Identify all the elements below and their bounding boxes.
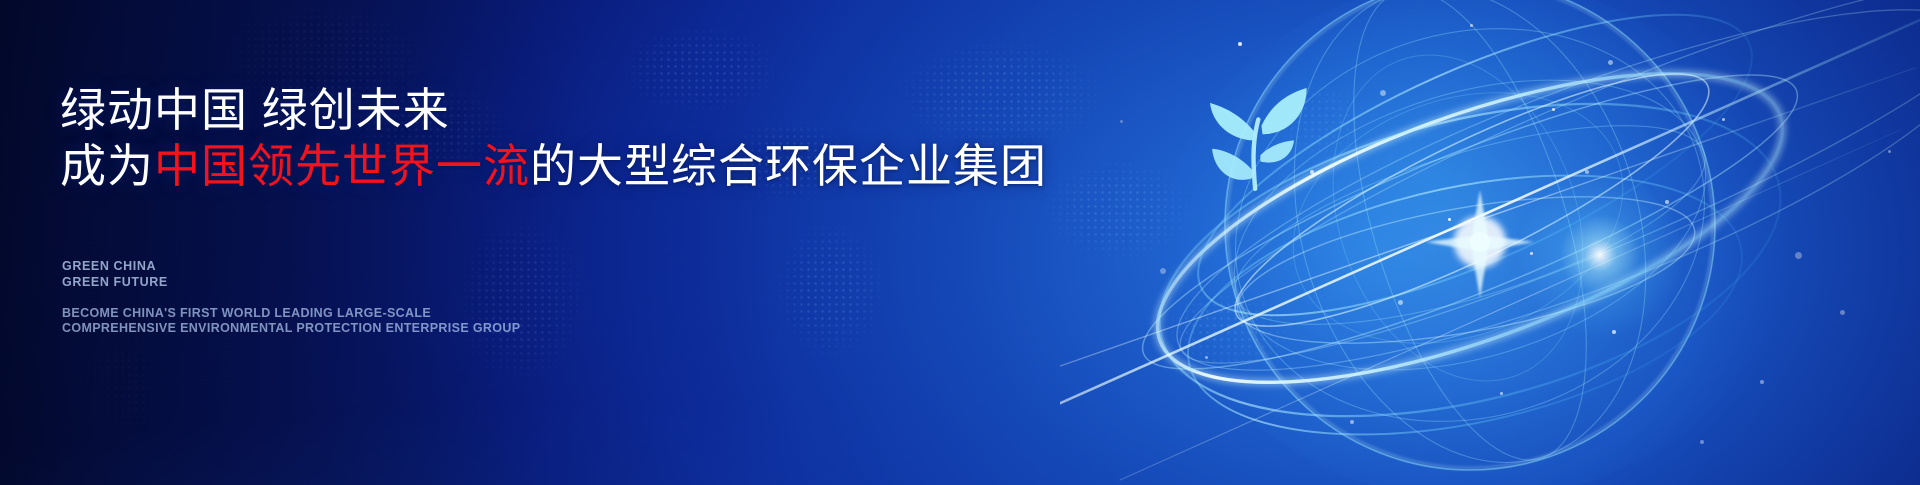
hero-banner: 绿动中国 绿创未来 成为中国领先世界一流的大型综合环保企业集团 GREEN CH… bbox=[0, 0, 1920, 485]
description-english: BECOME CHINA'S FIRST WORLD LEADING LARGE… bbox=[62, 306, 520, 336]
headline: 绿动中国 绿创未来 成为中国领先世界一流的大型综合环保企业集团 bbox=[60, 82, 1047, 194]
description-english-line-1: BECOME CHINA'S FIRST WORLD LEADING LARGE… bbox=[62, 306, 520, 321]
slogan-english-line-2: GREEN FUTURE bbox=[62, 274, 168, 290]
headline-line-1: 绿动中国 绿创未来 bbox=[60, 82, 1047, 138]
banner-text-block: 绿动中国 绿创未来 成为中国领先世界一流的大型综合环保企业集团 GREEN CH… bbox=[60, 0, 1060, 485]
slogan-english-line-1: GREEN CHINA bbox=[62, 258, 168, 274]
description-english-line-2: COMPREHENSIVE ENVIRONMENTAL PROTECTION E… bbox=[62, 321, 520, 336]
headline-line-2: 成为中国领先世界一流的大型综合环保企业集团 bbox=[60, 138, 1047, 194]
slogan-english: GREEN CHINA GREEN FUTURE bbox=[62, 258, 168, 290]
headline-line-2-suffix: 的大型综合环保企业集团 bbox=[530, 140, 1047, 192]
headline-line-2-highlight: 中国领先世界一流 bbox=[154, 140, 530, 192]
headline-line-2-prefix: 成为 bbox=[60, 140, 154, 192]
